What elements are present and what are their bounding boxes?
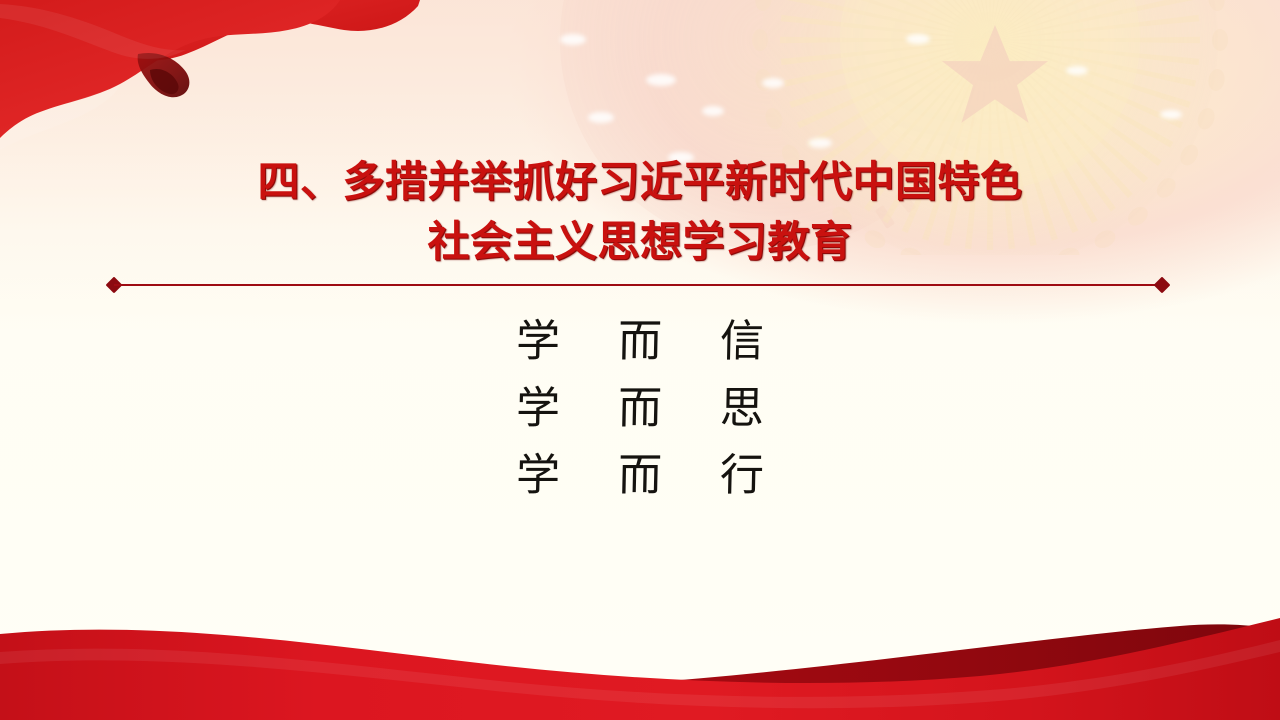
title-line-1: 四、多措并举抓好习近平新时代中国特色 [0,152,1280,212]
divider [108,278,1168,292]
body-line-2: 学 而 思 [0,375,1280,442]
divider-diamond-right-icon [1154,277,1171,294]
body-line-3: 学 而 行 [0,442,1280,509]
body-content: 学 而 信 学 而 思 学 而 行 [0,308,1280,509]
divider-rule [114,284,1162,286]
bottom-red-wave [0,590,1280,720]
page-title: 四、多措并举抓好习近平新时代中国特色 社会主义思想学习教育 [0,152,1280,272]
presentation-slide: 四、多措并举抓好习近平新时代中国特色 社会主义思想学习教育 学 而 信 学 而 … [0,0,1280,720]
body-line-1: 学 而 信 [0,308,1280,375]
title-line-2: 社会主义思想学习教育 [0,212,1280,272]
